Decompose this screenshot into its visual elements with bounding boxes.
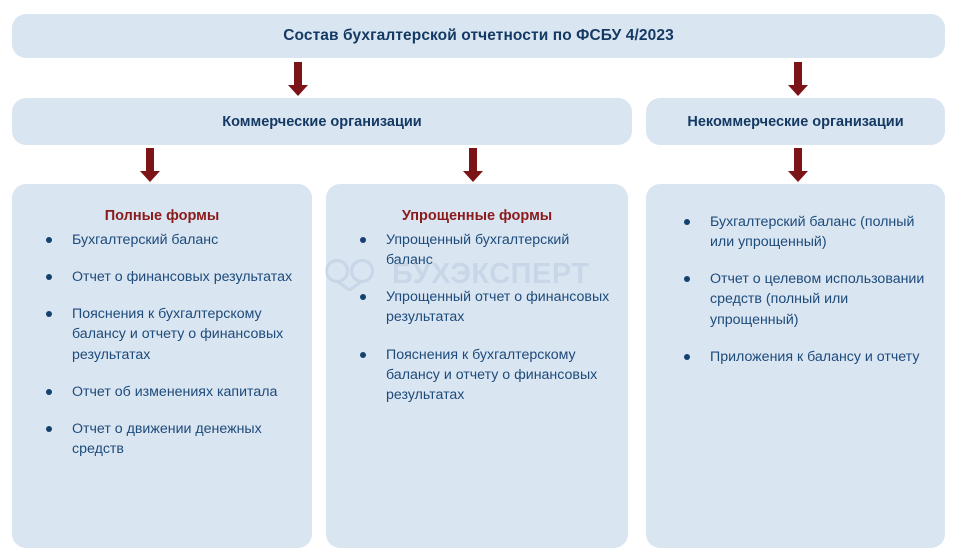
noncommercial-organizations-label: Некоммерческие организации — [687, 114, 903, 130]
simplified-forms-list: Упрощенный бухгалтерский баланс Упрощенн… — [326, 230, 628, 405]
diagram-canvas: Состав бухгалтерской отчетности по ФСБУ … — [0, 0, 957, 558]
full-forms-heading: Полные формы — [12, 208, 312, 224]
full-forms-list: Бухгалтерский баланс Отчет о финансовых … — [12, 230, 312, 459]
page-title: Состав бухгалтерской отчетности по ФСБУ … — [283, 27, 674, 45]
diagram-title-box: Состав бухгалтерской отчетности по ФСБУ … — [12, 14, 945, 58]
list-item: Упрощенный бухгалтерский баланс — [356, 230, 612, 270]
list-item: Бухгалтерский баланс (полный или упрощен… — [680, 212, 931, 252]
list-item: Приложения к балансу и отчету — [680, 347, 931, 367]
list-item: Отчет о финансовых результатах — [42, 267, 296, 287]
simplified-forms-heading: Упрощенные формы — [326, 208, 628, 224]
commercial-organizations-box: Коммерческие организации — [12, 98, 632, 145]
list-item: Отчет о целевом использовании средств (п… — [680, 269, 931, 329]
list-item: Пояснения к бухгалтерскому балансу и отч… — [42, 304, 296, 364]
arrow-commercial-to-simplified-forms — [461, 148, 485, 182]
arrow-noncommercial-to-forms — [786, 148, 810, 182]
list-item: Отчет о движении денежных средств — [42, 419, 296, 459]
arrow-title-to-noncommercial — [786, 62, 810, 96]
noncommercial-forms-box: Бухгалтерский баланс (полный или упрощен… — [646, 184, 945, 548]
noncommercial-forms-list: Бухгалтерский баланс (полный или упрощен… — [646, 212, 945, 367]
commercial-organizations-label: Коммерческие организации — [222, 114, 421, 130]
list-item: Бухгалтерский баланс — [42, 230, 296, 250]
list-item: Упрощенный отчет о финансовых результата… — [356, 287, 612, 327]
list-item: Пояснения к бухгалтерскому балансу и отч… — [356, 345, 612, 405]
noncommercial-organizations-box: Некоммерческие организации — [646, 98, 945, 145]
arrow-title-to-commercial — [286, 62, 310, 96]
full-forms-box: Полные формы Бухгалтерский баланс Отчет … — [12, 184, 312, 548]
list-item: Отчет об изменениях капитала — [42, 382, 296, 402]
arrow-commercial-to-full-forms — [138, 148, 162, 182]
spacer — [646, 184, 945, 212]
simplified-forms-box: Упрощенные формы Упрощенный бухгалтерски… — [326, 184, 628, 548]
